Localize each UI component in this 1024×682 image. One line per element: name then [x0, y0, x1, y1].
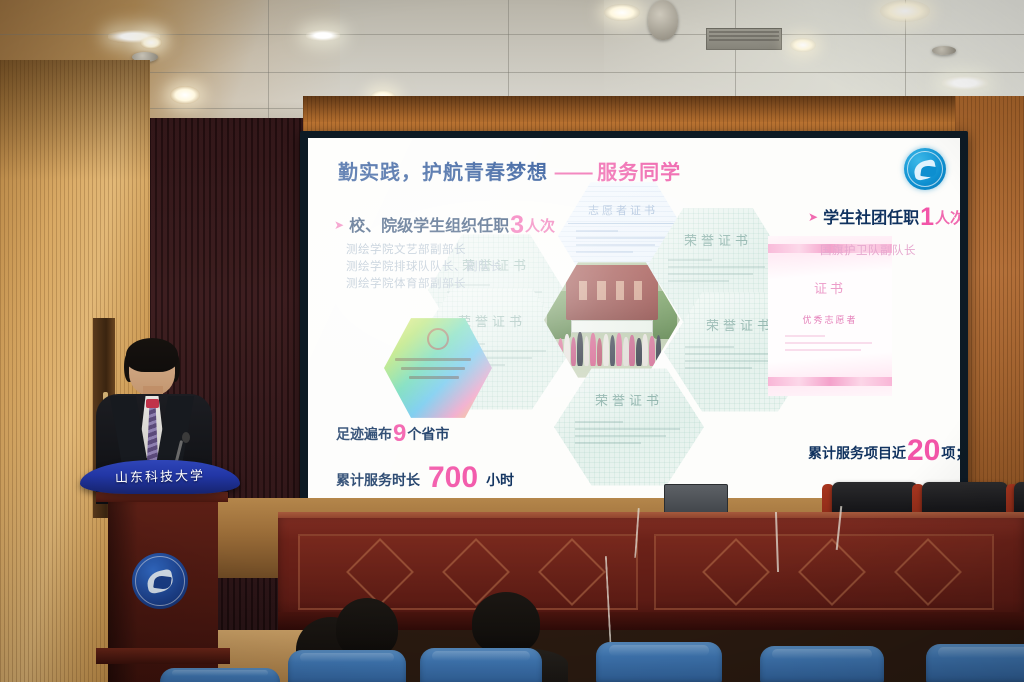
stat-number: 9	[392, 420, 407, 447]
audience-head	[336, 598, 398, 658]
stat-prefix: 累计服务时长	[336, 472, 420, 488]
ceiling-light	[306, 30, 340, 41]
ceiling-vent	[706, 28, 782, 50]
stat-projects: 累计服务项目近20项；	[808, 434, 960, 468]
speaker-tie-knot	[146, 399, 159, 408]
list-item: 国旗护卫队副队长	[820, 242, 916, 258]
ceiling-light	[942, 76, 988, 90]
certificate-card: 荣誉证书	[554, 366, 704, 488]
ceiling-light	[790, 38, 816, 52]
certificate-title: 荣誉证书	[554, 390, 704, 409]
certificate-hex: 荣誉证书	[554, 366, 704, 488]
photo-building	[566, 265, 658, 320]
list-item: 测绘学院排球队队长、副队长	[346, 259, 502, 276]
audience-head	[472, 592, 540, 654]
stat-number: 700	[420, 461, 486, 494]
ceiling-speaker	[932, 46, 956, 55]
photo-window	[616, 281, 624, 300]
bullet-arrow-icon: ➤	[808, 210, 818, 224]
list-item: 测绘学院文艺部副部长	[346, 242, 502, 259]
ceiling-light	[170, 86, 200, 104]
slide-title-accent: 服务同学	[597, 162, 681, 184]
certificate-body-lines	[575, 421, 689, 449]
emblem-wing-inner	[920, 165, 936, 178]
speaker-hair	[126, 338, 178, 372]
left-header-label: 校、院级学生组织任职	[349, 218, 509, 235]
audience-seat	[596, 642, 722, 682]
podium-base	[96, 648, 230, 664]
certificate-body-lines	[785, 335, 879, 356]
stat-service-hours: 累计服务时长700小时	[336, 461, 514, 495]
slide-title: 勤实践，护航青春梦想 —— 服务同学	[338, 156, 681, 185]
podium-banner: 山东科技大学	[80, 460, 240, 494]
audience-seat	[926, 644, 1024, 682]
right-header-number: 1	[919, 203, 935, 231]
emblem-inner	[912, 159, 938, 181]
certificate-card: 证书 优秀志愿者	[768, 236, 892, 396]
audience-seat	[760, 646, 884, 682]
photo-window	[579, 281, 587, 300]
stat-provinces: 足迹遍布9个省市	[336, 420, 449, 448]
right-section-header: ➤学生社团任职1人次	[808, 203, 960, 232]
audience-seat	[420, 648, 542, 682]
photo-window	[597, 281, 605, 300]
stat-prefix: 足迹遍布	[336, 426, 392, 442]
projection-screen-frame: 勤实践，护航青春梦想 —— 服务同学 志愿者证书	[300, 131, 968, 508]
stat-suffix: 个省市	[407, 426, 449, 442]
ceiling-projector	[648, 0, 678, 40]
left-header-unit: 人次	[525, 218, 555, 235]
microphone-head	[182, 432, 190, 443]
slide-title-dash: ——	[555, 162, 591, 184]
photo-crowd	[558, 330, 667, 366]
podium-banner-text: 山东科技大学	[80, 464, 240, 487]
certificate-seal	[427, 328, 449, 350]
certificate-body-lines	[668, 259, 774, 287]
list-item: 测绘学院体育部副部长	[346, 276, 502, 293]
emblem-inner	[145, 569, 175, 595]
screenshot-root: 勤实践，护航青春梦想 —— 服务同学 志愿者证书	[0, 0, 1024, 682]
ceiling-seam	[0, 72, 1024, 73]
ceiling-seam	[268, 0, 269, 135]
certificate-subtitle: 优秀志愿者	[768, 313, 892, 326]
left-sub-list: 测绘学院文艺部副部长 测绘学院排球队队长、副队长 测绘学院体育部副部长	[346, 242, 502, 293]
audience-seat	[288, 650, 406, 682]
stat-number: 20	[906, 434, 941, 467]
wall-shadow-band	[303, 96, 1024, 122]
certificate-body-lines	[395, 358, 481, 385]
stat-suffix: 项；	[941, 445, 960, 461]
left-header-number: 3	[509, 211, 525, 239]
right-header-unit: 人次	[935, 210, 960, 227]
projection-screen: 勤实践，护航青春梦想 —— 服务同学 志愿者证书	[308, 138, 960, 500]
bullet-arrow-icon: ➤	[334, 218, 344, 232]
certificate-title: 荣誉证书	[648, 230, 788, 249]
slide-title-main: 勤实践，护航青春梦想	[338, 162, 548, 184]
audience-seat	[160, 668, 280, 682]
right-header-label: 学生社团任职	[823, 210, 919, 227]
university-emblem-icon	[904, 148, 946, 190]
wall-shadow-left	[0, 60, 150, 180]
ceiling-light	[604, 4, 640, 21]
certificate-band-bottom	[768, 377, 892, 386]
podium-university-emblem-icon	[132, 553, 188, 609]
ceiling-light	[880, 0, 930, 22]
pink-certificate: 证书 优秀志愿者	[768, 236, 892, 396]
certificate-rule	[568, 223, 677, 224]
right-sub-list: 国旗护卫队副队长	[820, 242, 916, 258]
stat-prefix: 累计服务项目近	[808, 445, 906, 461]
ceiling-light	[140, 36, 162, 49]
certificate-title: 志愿者证书	[558, 202, 688, 218]
photo-window	[634, 281, 642, 300]
stat-suffix: 小时	[486, 472, 514, 488]
certificate-title: 证书	[768, 278, 892, 297]
left-section-header: ➤校、院级学生组织任职3人次	[334, 211, 555, 240]
